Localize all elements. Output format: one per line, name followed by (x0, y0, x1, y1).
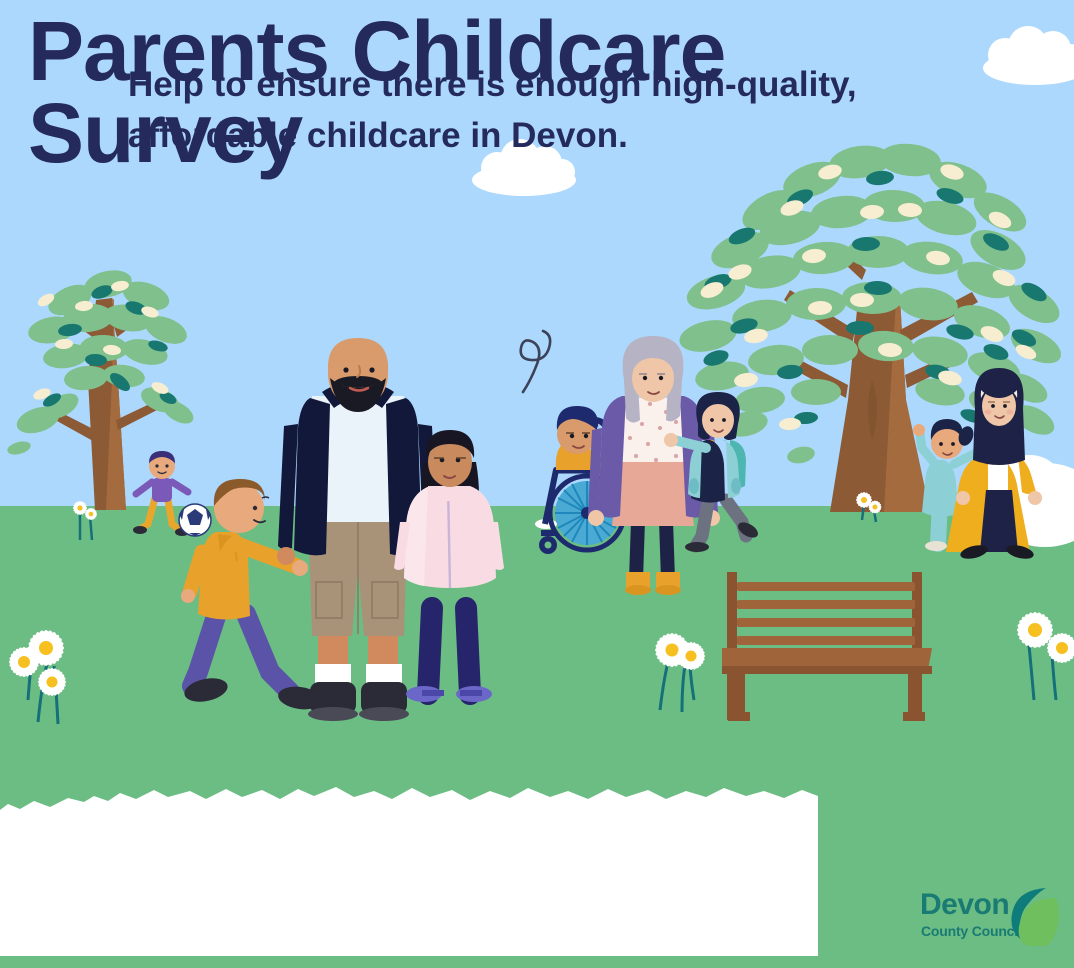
poster-root: Parents Childcare Survey Help to ensure … (0, 0, 1074, 968)
torn-paper-panel (0, 770, 1074, 968)
soccer-ball (179, 504, 211, 536)
devon-county-council-logo: Devon County Council (920, 890, 1060, 952)
torn-panel-shape (0, 787, 818, 956)
leaf-logo-mark (1006, 884, 1060, 946)
panel-subtitle: Help to ensure there is enough high-qual… (128, 60, 918, 162)
logo-name-top: Devon (920, 890, 1009, 920)
